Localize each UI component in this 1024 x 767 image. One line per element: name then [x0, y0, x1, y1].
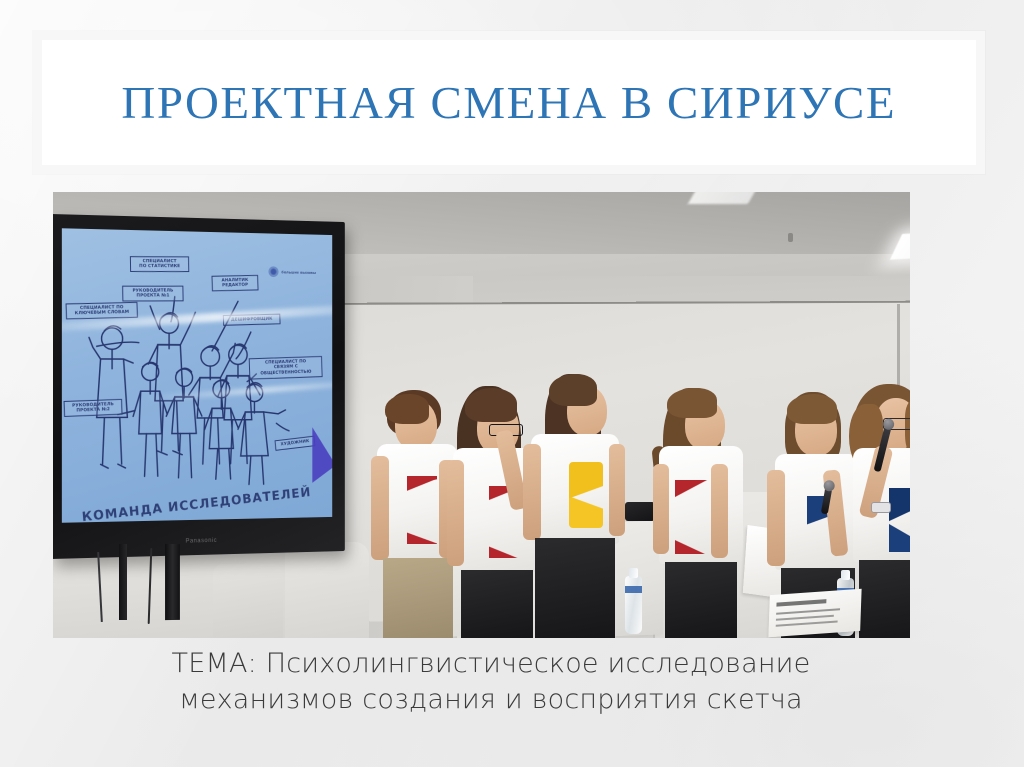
sketch-overlay: СПЕЦИАЛИСТ ПО КЛЮЧЕВЫМ СЛОВАМ РУКОВОДИТЕ…: [62, 228, 332, 522]
title-plate: ПРОЕКТНАЯ СМЕНА В СИРИУСЕ: [33, 31, 985, 174]
sketch-team-title: КОМАНДА ИССЛЕДОВАТЕЛЕЙ: [81, 485, 317, 523]
sketch-label-artist: ХУДОЖНИК: [274, 436, 315, 451]
sketch-label-pr-specialist: СПЕЦИАЛИСТ ПО СВЯЗЯМ С ОБЩЕСТВЕННОСТЬЮ: [249, 356, 323, 379]
wristwatch-icon: [871, 502, 891, 513]
page-title: ПРОЕКТНАЯ СМЕНА В СИРИУСЕ: [122, 80, 897, 126]
tv-screen-surface: СПЕЦИАЛИСТ ПО КЛЮЧЕВЫМ СЛОВАМ РУКОВОДИТЕ…: [62, 228, 332, 522]
screen-corner-graphic-icon: [312, 427, 332, 483]
presentation-photo: СПЕЦИАЛИСТ ПО КЛЮЧЕВЫМ СЛОВАМ РУКОВОДИТЕ…: [53, 192, 910, 638]
display-screen: СПЕЦИАЛИСТ ПО КЛЮЧЕВЫМ СЛОВАМ РУКОВОДИТЕ…: [53, 214, 345, 559]
sketch-label-analyst-editor: АНАЛИТИК РЕДАКТОР: [211, 275, 258, 291]
logo-label: большие вызовы: [281, 269, 315, 274]
shirt-graphic-yellow-icon: [569, 462, 603, 528]
ceiling-light-secondary-icon: [688, 192, 758, 204]
presentation-slide: ПРОЕКТНАЯ СМЕНА В СИРИУСЕ: [0, 0, 1024, 767]
chair-secondary: [213, 564, 283, 638]
sketch-label-keyword-specialist: СПЕЦИАЛИСТ ПО КЛЮЧЕВЫМ СЛОВАМ: [66, 302, 138, 320]
tv-stand: [165, 544, 180, 620]
table-sign: [768, 589, 861, 638]
sketch-label-statistics-specialist: СПЕЦИАЛИСТ ПО СТАТИСТИКЕ: [130, 256, 189, 272]
logo-burst-icon: [269, 266, 279, 277]
screen-glare-secondary: [146, 379, 333, 402]
tv-stand-secondary: [119, 544, 127, 620]
shirt-graphic-blue-icon: [889, 488, 910, 552]
slide-caption: ТЕМА: Психолингвистическое исследование …: [53, 646, 929, 717]
caption-line-2: механизмов создания и восприятия скетча: [53, 682, 929, 718]
sketch-label-project-manager-1: РУКОВОДИТЕЛЬ ПРОЕКТА №1: [122, 286, 183, 302]
title-inner-panel: ПРОЕКТНАЯ СМЕНА В СИРИУСЕ: [42, 40, 976, 165]
tv-brand-label: Panasonic: [186, 538, 217, 545]
person-presenter-4: [649, 388, 749, 638]
bolshie-vyzovy-logo: большие вызовы: [269, 266, 316, 277]
ceiling-fixture-icon: [788, 233, 793, 242]
chair: [285, 542, 369, 638]
person-presenter-3: [523, 378, 627, 638]
water-bottle: [625, 576, 642, 634]
caption-line-1: ТЕМА: Психолингвистическое исследование: [53, 646, 929, 682]
sketch-label-project-manager-2: РУКОВОДИТЕЛЬ ПРОЕКТА №2: [64, 399, 123, 417]
